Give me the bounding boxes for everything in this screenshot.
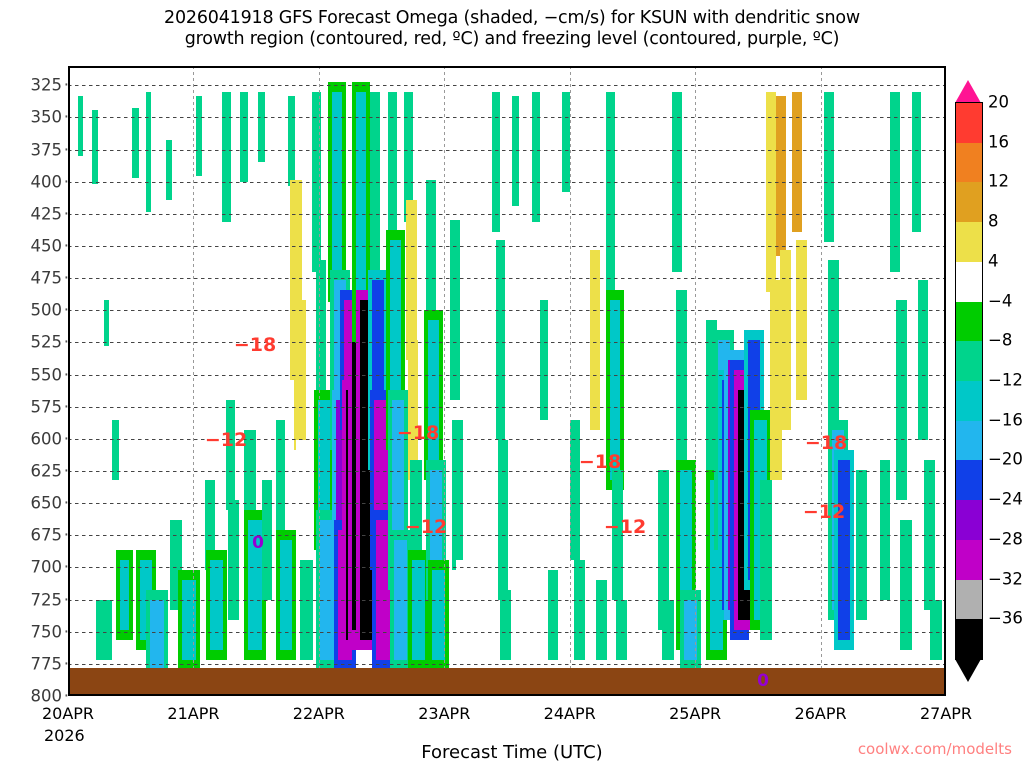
y-axis-tick-label: 425 bbox=[31, 204, 63, 223]
gridline-horizontal bbox=[68, 117, 946, 118]
omega-shading-cell bbox=[408, 340, 418, 480]
freezing-level-contour-label: 0 bbox=[252, 533, 264, 553]
y-axis-tick-label: 725 bbox=[31, 590, 63, 609]
y-axis-tick-label: 375 bbox=[31, 140, 63, 159]
colorbar-under-arrow bbox=[955, 659, 981, 682]
omega-shading-cell bbox=[268, 140, 277, 290]
gridline-horizontal bbox=[68, 85, 946, 86]
colorbar-tick-label: −12 bbox=[988, 371, 1023, 390]
omega-shading-cell bbox=[296, 440, 307, 560]
x-axis-tick-label: 24APR bbox=[544, 704, 596, 723]
x-axis-tick-label: 25APR bbox=[669, 704, 721, 723]
omega-shading-cell bbox=[512, 96, 519, 206]
omega-shading-cell bbox=[596, 580, 607, 660]
y-axis-tick-label: 750 bbox=[31, 622, 63, 641]
y-axis-tick-label: 325 bbox=[31, 76, 63, 95]
omega-shading-cell bbox=[796, 240, 807, 400]
gridline-horizontal bbox=[68, 278, 946, 279]
colorbar-tick-label: −4 bbox=[988, 291, 1012, 310]
colorbar-tick-label: 12 bbox=[988, 172, 1009, 191]
omega-shading-cell bbox=[258, 92, 265, 162]
omega-shading-cell bbox=[146, 92, 151, 212]
terrain-band bbox=[68, 668, 946, 696]
y-axis-tick-mark: · bbox=[64, 269, 69, 288]
y-axis-tick-label: 500 bbox=[31, 301, 63, 320]
omega-shading-cell bbox=[930, 600, 942, 660]
x-axis-tick-label: 26APR bbox=[795, 704, 847, 723]
dendritic-contour-label: −12 bbox=[604, 516, 646, 538]
y-axis-tick-label: 400 bbox=[31, 172, 63, 191]
omega-shading-cell bbox=[548, 570, 558, 660]
gridline-horizontal bbox=[68, 150, 946, 151]
y-axis-tick-label: 525 bbox=[31, 333, 63, 352]
omega-shading-cell bbox=[468, 92, 476, 212]
x-axis-tick-label: 20APR bbox=[42, 704, 94, 723]
gridline-horizontal bbox=[68, 471, 946, 472]
dendritic-contour-label: −12 bbox=[405, 516, 447, 538]
gridline-vertical bbox=[444, 66, 445, 696]
omega-shading-cell bbox=[824, 92, 834, 242]
dendritic-contour-label: −12 bbox=[205, 429, 247, 451]
omega-shading-cell bbox=[590, 250, 600, 430]
y-axis-tick-mark: · bbox=[64, 654, 69, 673]
omega-shading-cell bbox=[896, 300, 907, 500]
omega-shading-cell bbox=[544, 440, 553, 570]
omega-shading-cell bbox=[766, 92, 776, 292]
gridline-vertical bbox=[695, 66, 696, 696]
colorbar-band bbox=[956, 302, 982, 343]
omega-shading-cell bbox=[132, 108, 139, 178]
y-axis-tick-mark: · bbox=[64, 558, 69, 577]
omega-shading-cell bbox=[320, 520, 334, 660]
omega-shading-cell bbox=[96, 600, 112, 660]
dendritic-contour-label: −18 bbox=[805, 432, 847, 454]
colorbar-tick-label: −20 bbox=[988, 450, 1023, 469]
omega-shading-cell bbox=[868, 96, 877, 216]
gridline-vertical bbox=[570, 66, 571, 696]
x-axis-tick-label: 27APR bbox=[920, 704, 972, 723]
plot-canvas bbox=[68, 66, 946, 696]
omega-shading-cell bbox=[856, 470, 867, 620]
omega-shading-cell bbox=[634, 260, 644, 420]
dendritic-contour-label: −18 bbox=[234, 334, 276, 356]
omega-shading-cell bbox=[516, 380, 525, 520]
colorbar-tick-label: −36 bbox=[988, 609, 1023, 628]
omega-shading-cell bbox=[150, 600, 164, 670]
omega-shading-cell bbox=[780, 250, 791, 430]
gridline-horizontal bbox=[68, 535, 946, 536]
gridline-horizontal bbox=[68, 182, 946, 183]
colorbar-band bbox=[956, 619, 982, 660]
omega-shading-cell bbox=[828, 260, 839, 420]
colorbar-band bbox=[956, 143, 982, 184]
omega-shading-cell bbox=[532, 92, 540, 222]
gridline-horizontal bbox=[68, 246, 946, 247]
colorbar-band bbox=[956, 500, 982, 541]
omega-shading-cell bbox=[240, 92, 248, 182]
gridline-vertical bbox=[193, 66, 194, 696]
colorbar bbox=[955, 102, 983, 660]
omega-shading-cell bbox=[846, 92, 855, 222]
omega-shading-cell bbox=[120, 560, 129, 630]
omega-shading-cell bbox=[446, 96, 454, 186]
gridline-horizontal bbox=[68, 214, 946, 215]
y-axis-tick-mark: · bbox=[64, 237, 69, 256]
omega-shading-cell bbox=[432, 570, 445, 660]
omega-shading-cell bbox=[838, 460, 850, 640]
colorbar-tick-label: −8 bbox=[988, 331, 1012, 350]
omega-shading-cell bbox=[498, 440, 508, 600]
y-axis-tick-mark: · bbox=[64, 333, 69, 352]
dendritic-contour-label: −18 bbox=[579, 451, 621, 473]
omega-shading-cell bbox=[616, 600, 627, 660]
colorbar-tick-label: −16 bbox=[988, 410, 1023, 429]
omega-shading-cell bbox=[224, 280, 232, 350]
colorbar-tick-label: 16 bbox=[988, 132, 1009, 151]
omega-shading-cell bbox=[606, 92, 615, 292]
y-axis-tick-label: 450 bbox=[31, 237, 63, 256]
omega-shading-cell bbox=[586, 92, 595, 252]
omega-shading-cell bbox=[196, 96, 202, 176]
omega-shading-cell bbox=[900, 520, 912, 650]
omega-shading-cell bbox=[880, 460, 890, 600]
omega-shading-cell bbox=[92, 110, 98, 184]
y-axis-tick-mark: · bbox=[64, 622, 69, 641]
gridline-vertical bbox=[821, 66, 822, 696]
omega-shading-cell bbox=[570, 420, 580, 560]
y-axis-tick-mark: · bbox=[64, 301, 69, 320]
omega-shading-cell bbox=[918, 280, 928, 440]
watermark: coolwx.com/modelts bbox=[858, 740, 1012, 758]
omega-shading-cell bbox=[78, 96, 83, 156]
omega-shading-cell bbox=[280, 540, 292, 650]
y-axis-tick-label: 350 bbox=[31, 108, 63, 127]
omega-shading-cell bbox=[412, 560, 425, 660]
chart-title-line-2: growth region (contoured, red, ºC) and f… bbox=[0, 29, 1024, 50]
colorbar-band bbox=[956, 381, 982, 422]
colorbar-tick-label: 8 bbox=[988, 212, 999, 231]
gridline-horizontal bbox=[68, 407, 946, 408]
colorbar-tick-label: −32 bbox=[988, 569, 1023, 588]
y-axis-tick-mark: · bbox=[64, 397, 69, 416]
chart-page: 2026041918 GFS Forecast Omega (shaded, −… bbox=[0, 0, 1024, 768]
y-axis-tick-label: 775 bbox=[31, 654, 63, 673]
omega-shading-cell bbox=[574, 560, 585, 660]
omega-shading-cell bbox=[496, 240, 505, 440]
gridline-horizontal bbox=[68, 310, 946, 311]
omega-shading-cell bbox=[776, 96, 786, 256]
omega-shading-cell bbox=[376, 520, 390, 660]
colorbar-band bbox=[956, 460, 982, 501]
omega-shading-cell bbox=[492, 92, 500, 232]
y-axis-tick-mark: · bbox=[64, 140, 69, 159]
omega-shading-cell bbox=[104, 300, 109, 346]
y-axis-tick-mark: · bbox=[64, 526, 69, 545]
omega-shading-cell bbox=[370, 92, 380, 292]
gridline-horizontal bbox=[68, 342, 946, 343]
gridline-horizontal bbox=[68, 600, 946, 601]
y-axis-tick-mark: · bbox=[64, 365, 69, 384]
omega-shading-cell bbox=[332, 92, 342, 292]
x-axis-tick-label: 21APR bbox=[167, 704, 219, 723]
y-axis-tick-mark: · bbox=[64, 108, 69, 127]
omega-shading-cell bbox=[178, 200, 189, 380]
y-axis-tick-mark: · bbox=[64, 172, 69, 191]
omega-shading-cell bbox=[540, 300, 548, 420]
omega-shading-cell bbox=[388, 92, 397, 252]
colorbar-band bbox=[956, 421, 982, 462]
omega-shading-cell bbox=[850, 300, 860, 440]
gridline-horizontal bbox=[68, 664, 946, 665]
y-axis-tick-label: 475 bbox=[31, 269, 63, 288]
dendritic-contour-label: −12 bbox=[803, 501, 845, 523]
plot-area bbox=[68, 66, 946, 696]
colorbar-tick-label: −28 bbox=[988, 529, 1023, 548]
omega-shading-cell bbox=[210, 560, 223, 650]
y-axis-tick-mark: · bbox=[64, 204, 69, 223]
chart-title-line-1: 2026041918 GFS Forecast Omega (shaded, −… bbox=[0, 8, 1024, 29]
y-axis-tick-label: 575 bbox=[31, 397, 63, 416]
omega-shading-cell bbox=[628, 92, 637, 222]
y-axis-tick-mark: · bbox=[64, 494, 69, 513]
colorbar-band bbox=[956, 580, 982, 621]
omega-shading-cell bbox=[222, 92, 231, 222]
x-axis-tick-label: 22APR bbox=[293, 704, 345, 723]
omega-shading-layer bbox=[68, 66, 946, 696]
colorbar-band bbox=[956, 341, 982, 382]
omega-shading-cell bbox=[480, 560, 491, 660]
y-axis-tick-label: 625 bbox=[31, 462, 63, 481]
colorbar-tick-label: 4 bbox=[988, 251, 999, 270]
omega-shading-cell bbox=[200, 300, 210, 360]
omega-shading-cell bbox=[456, 560, 468, 660]
colorbar-band bbox=[956, 262, 982, 303]
gridline-horizontal bbox=[68, 632, 946, 633]
gridline-vertical bbox=[319, 66, 320, 696]
colorbar-band bbox=[956, 182, 982, 223]
omega-shading-cell bbox=[406, 200, 417, 360]
omega-shading-cell bbox=[226, 400, 235, 510]
omega-shading-cell bbox=[520, 520, 530, 640]
y-axis-tick-label: 675 bbox=[31, 526, 63, 545]
y-axis-tick-label: 700 bbox=[31, 558, 63, 577]
colorbar-tick-label: 20 bbox=[988, 93, 1009, 112]
y-axis-tick-mark: · bbox=[64, 590, 69, 609]
x-axis-tick-label: 23APR bbox=[418, 704, 470, 723]
colorbar-band bbox=[956, 540, 982, 581]
colorbar-band bbox=[956, 103, 982, 144]
y-axis: 325·350·375·400·425·450·475·500·525·550·… bbox=[0, 66, 62, 696]
omega-shading-cell bbox=[912, 92, 921, 232]
y-axis-tick-mark: · bbox=[64, 462, 69, 481]
y-axis-tick-mark: · bbox=[64, 429, 69, 448]
omega-shading-cell bbox=[476, 420, 486, 560]
gridline-horizontal bbox=[68, 567, 946, 568]
y-axis-tick-label: 600 bbox=[31, 429, 63, 448]
y-axis-tick-label: 550 bbox=[31, 365, 63, 384]
dendritic-contour-label: −18 bbox=[397, 422, 439, 444]
colorbar-tick-label: −24 bbox=[988, 490, 1023, 509]
omega-shading-cell bbox=[300, 560, 313, 660]
x-axis: 20APR21APR22APR23APR24APR25APR26APR27APR… bbox=[0, 698, 1024, 738]
omega-shading-cell bbox=[228, 500, 239, 620]
y-axis-tick-label: 650 bbox=[31, 494, 63, 513]
colorbar-band bbox=[956, 222, 982, 263]
omega-shading-cell bbox=[452, 420, 463, 570]
y-axis-tick-mark: · bbox=[64, 76, 69, 95]
omega-shading-cell bbox=[650, 92, 659, 212]
gridline-horizontal bbox=[68, 375, 946, 376]
omega-shading-cell bbox=[662, 600, 674, 660]
omega-shading-cell bbox=[288, 96, 295, 186]
chart-title: 2026041918 GFS Forecast Omega (shaded, −… bbox=[0, 8, 1024, 50]
colorbar-over-arrow bbox=[955, 80, 981, 103]
freezing-level-contour-label: 0 bbox=[757, 671, 769, 691]
omega-shading-cell bbox=[792, 92, 802, 232]
